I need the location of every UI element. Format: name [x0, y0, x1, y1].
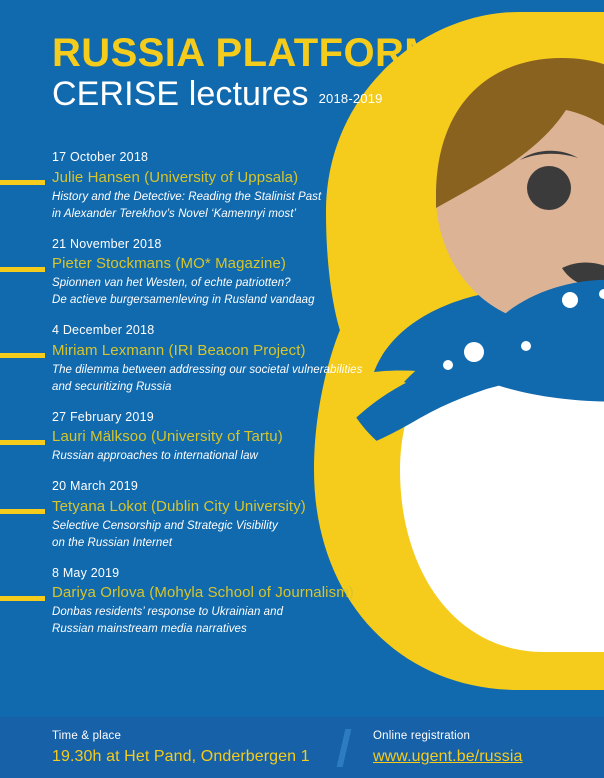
lecture-description: and securitizing Russia: [52, 379, 420, 396]
title-block: RUSSIA PLATFORM CERISE lectures 2018-201…: [52, 33, 438, 112]
registration-link[interactable]: www.ugent.be/russia: [373, 745, 523, 768]
slash-divider-icon: [337, 729, 352, 767]
lecture-speaker: Julie Hansen (University of Uppsala): [52, 167, 420, 189]
lecture-date: 21 November 2018: [52, 235, 420, 254]
lecture-description: De actieve burgersamenleving in Rusland …: [52, 292, 420, 309]
lecture-description: in Alexander Terekhov’s Novel ‘Kamennyi …: [52, 206, 420, 223]
lecture-speaker: Pieter Stockmans (MO* Magazine): [52, 253, 420, 275]
time-place-block: Time & place 19.30h at Het Pand, Onderbe…: [52, 728, 310, 768]
list-item: 4 December 2018 Miriam Lexmann (IRI Beac…: [0, 321, 420, 396]
bullet-dash-icon: [0, 353, 45, 358]
page-title: RUSSIA PLATFORM: [52, 33, 438, 74]
lecture-date: 27 February 2019: [52, 408, 420, 427]
lecture-date: 4 December 2018: [52, 321, 420, 340]
bullet-dash-icon: [0, 267, 45, 272]
lecture-date: 20 March 2019: [52, 477, 420, 496]
list-item: 27 February 2019 Lauri Mälksoo (Universi…: [0, 408, 420, 466]
bullet-dash-icon: [0, 180, 45, 185]
doll-dot-2: [464, 342, 484, 362]
bullet-dash-icon: [0, 596, 45, 601]
lecture-date: 8 May 2019: [52, 564, 420, 583]
lecture-speaker: Tetyana Lokot (Dublin City University): [52, 496, 420, 518]
lecture-description: The dilemma between addressing our socie…: [52, 362, 420, 379]
list-item: 20 March 2019 Tetyana Lokot (Dublin City…: [0, 477, 420, 552]
bullet-dash-icon: [0, 509, 45, 514]
lecture-description: Donbas residents’ response to Ukrainian …: [52, 604, 420, 621]
lecture-list: 17 October 2018 Julie Hansen (University…: [0, 148, 420, 650]
lecture-description: Spionnen van het Westen, of echte patrio…: [52, 275, 420, 292]
academic-year-badge: 2018-2019: [319, 91, 383, 106]
subtitle-row: CERISE lectures 2018-2019: [52, 77, 438, 113]
lecture-description: Selective Censorship and Strategic Visib…: [52, 518, 420, 535]
doll-dot-4: [562, 292, 578, 308]
lecture-speaker: Dariya Orlova (Mohyla School of Journali…: [52, 582, 420, 604]
lecture-speaker: Miriam Lexmann (IRI Beacon Project): [52, 340, 420, 362]
lecture-description: Russian mainstream media narratives: [52, 621, 420, 638]
time-place-value: 19.30h at Het Pand, Onderbergen 1: [52, 745, 310, 768]
time-place-label: Time & place: [52, 728, 310, 745]
doll-eye: [527, 166, 571, 210]
list-item: 8 May 2019 Dariya Orlova (Mohyla School …: [0, 564, 420, 639]
bullet-dash-icon: [0, 440, 45, 445]
lecture-speaker: Lauri Mälksoo (University of Tartu): [52, 426, 420, 448]
doll-dot-1: [443, 360, 453, 370]
page-subtitle: CERISE lectures: [52, 77, 309, 113]
lecture-description: Russian approaches to international law: [52, 448, 420, 465]
list-item: 21 November 2018 Pieter Stockmans (MO* M…: [0, 235, 420, 310]
lecture-date: 17 October 2018: [52, 148, 420, 167]
poster-canvas: RUSSIA PLATFORM CERISE lectures 2018-201…: [0, 0, 604, 778]
list-item: 17 October 2018 Julie Hansen (University…: [0, 148, 420, 223]
registration-block: Online registration www.ugent.be/russia: [373, 728, 523, 768]
registration-label: Online registration: [373, 728, 523, 745]
doll-dot-3: [521, 341, 531, 351]
lecture-description: History and the Detective: Reading the S…: [52, 189, 420, 206]
footer-bar: Time & place 19.30h at Het Pand, Onderbe…: [0, 717, 604, 778]
lecture-description: on the Russian Internet: [52, 535, 420, 552]
